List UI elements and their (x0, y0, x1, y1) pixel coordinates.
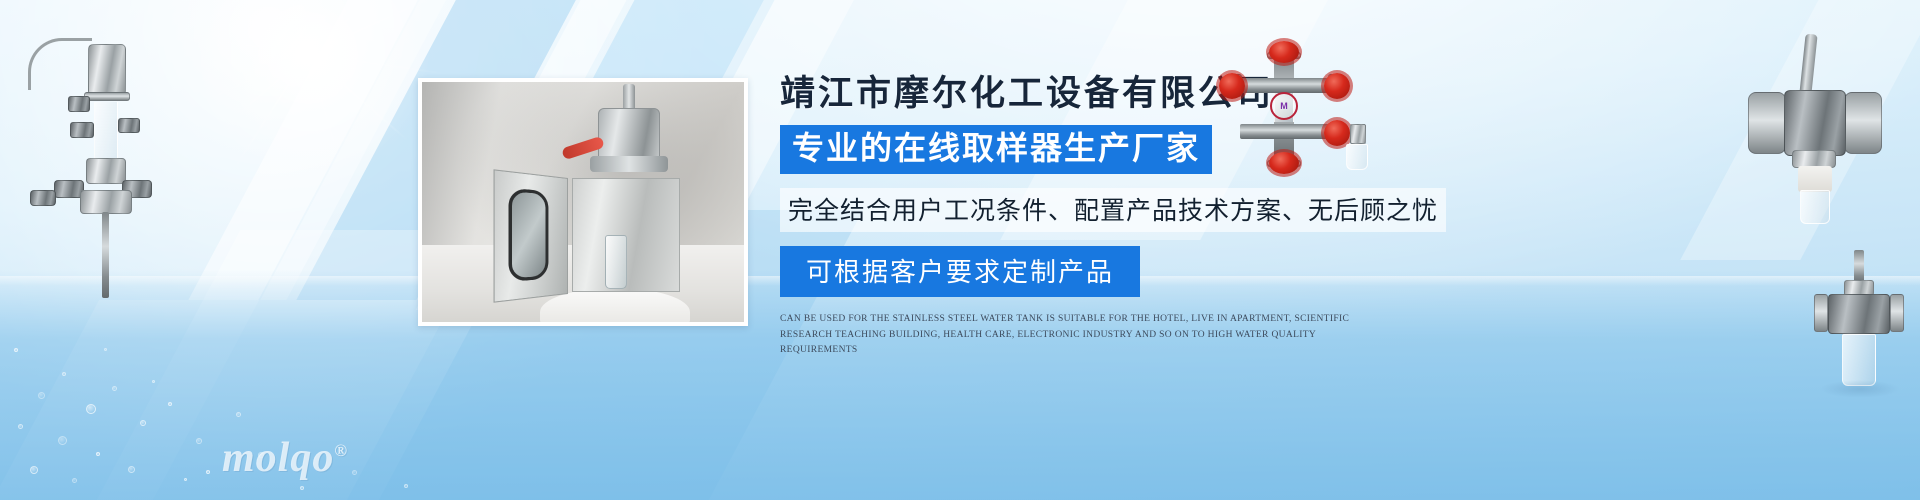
cross-handwheel-drain (1324, 120, 1350, 146)
water-bubble (96, 452, 100, 456)
left-sampler-equipment (10, 30, 170, 300)
br-flange-right (1890, 294, 1904, 332)
watermark-registered-mark: ® (334, 441, 348, 460)
water-bubble (112, 386, 117, 391)
photo-door-window (509, 188, 549, 282)
cross-sample-jar (1346, 144, 1368, 170)
sampler-valve-a (68, 96, 90, 112)
cross-horizontal-pipe-lower (1240, 124, 1330, 139)
water-bubble (236, 412, 241, 417)
water-bubble (404, 484, 408, 488)
sampler-top-flange (84, 92, 130, 101)
photo-cabinet-body (572, 178, 680, 292)
sampler-valve-f (30, 190, 56, 206)
water-bubble (30, 466, 38, 474)
water-bubble (72, 478, 77, 483)
cross-handwheel-top (1269, 41, 1299, 63)
photo-cabinet-door (493, 169, 568, 303)
lever-cap (1798, 166, 1832, 192)
sun-ray (308, 0, 441, 55)
photo-valve-flange (590, 156, 668, 172)
cross-sampler-equipment: M (1212, 40, 1372, 170)
headline-badge: 专业的在线取样器生产厂家 (780, 125, 1212, 174)
br-shadow (1820, 380, 1900, 398)
watermark-text: molqo (222, 435, 334, 481)
water-bubble (18, 424, 23, 429)
water-bubble (128, 466, 135, 473)
water-bubble (58, 436, 67, 445)
custom-product-cta[interactable]: 可根据客户要求定制产品 (780, 246, 1140, 297)
sampler-manifold (80, 190, 132, 214)
water-bubble (206, 470, 210, 474)
sun-ray (307, 54, 309, 124)
br-valve-body (1828, 294, 1890, 334)
water-bubble (104, 348, 107, 351)
lever-flange-left (1748, 92, 1786, 154)
water-bubble (184, 478, 187, 481)
brand-watermark: molqo® (222, 434, 348, 482)
cross-handwheel-bottom (1269, 152, 1299, 174)
water-bubble (86, 404, 96, 414)
sampler-probe (102, 212, 109, 298)
br-flange-left (1814, 294, 1828, 332)
water-bubble (14, 348, 18, 352)
lever-valve-body (1784, 90, 1846, 156)
water-bubble (140, 420, 146, 426)
water-bubble (352, 470, 357, 475)
water-bubble (38, 392, 45, 399)
sampler-top-cylinder (88, 44, 126, 96)
sampler-valve-c (118, 118, 140, 133)
cross-handwheel-left (1219, 73, 1245, 99)
brand-seal-icon: M (1270, 92, 1298, 120)
bottom-right-valve-equipment (1800, 250, 1920, 410)
water-bubble (62, 372, 66, 376)
english-description: CAN BE USED FOR THE STAINLESS STEEL WATE… (780, 312, 1380, 359)
product-photo-card (418, 78, 748, 326)
sampler-valve-b (70, 122, 94, 138)
water-bubble (152, 380, 155, 383)
br-stem (1854, 250, 1864, 284)
sun-ray (277, 54, 309, 157)
sunburst-decoration (168, 0, 448, 194)
br-sample-jar (1842, 334, 1876, 386)
sub-headline: 完全结合用户工况条件、配置产品技术方案、无后顾之忧 (780, 188, 1446, 232)
water-bubble (300, 486, 304, 490)
lever-sample-jar (1800, 190, 1830, 224)
product-photo (422, 82, 744, 322)
sun-ray (262, 0, 309, 55)
water-bubble (196, 438, 202, 444)
cross-drain-port (1350, 124, 1366, 144)
cross-horizontal-pipe-upper (1240, 78, 1330, 93)
stripe-white-8 (0, 300, 259, 500)
sun-ray (307, 54, 345, 176)
photo-sample-bottle (605, 235, 627, 289)
sampler-curved-arm (28, 38, 92, 90)
water-bubble (168, 402, 172, 406)
lever-valve-equipment (1740, 34, 1890, 224)
promotional-banner: 靖江市摩尔化工设备有限公司 专业的在线取样器生产厂家 完全结合用户工况条件、配置… (0, 0, 1920, 500)
sampler-sight-glass (94, 102, 118, 160)
cross-handwheel-right (1324, 73, 1350, 99)
sampler-body (86, 158, 126, 184)
lever-flange-right (1844, 92, 1882, 154)
